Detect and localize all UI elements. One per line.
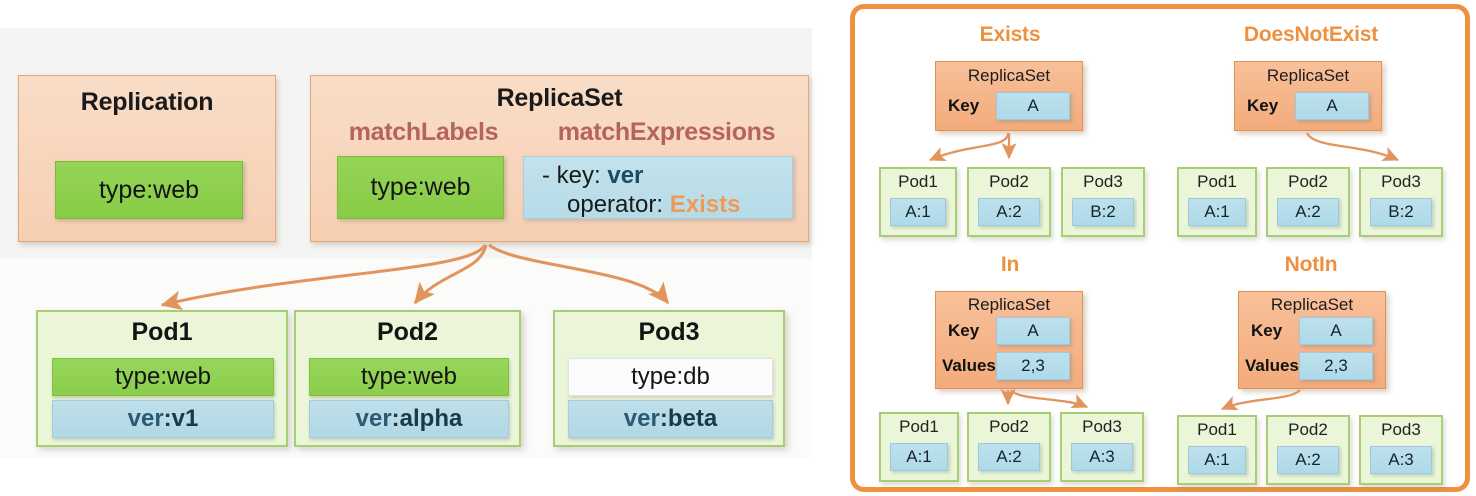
mini-pod: Pod3 A:3: [1060, 412, 1144, 482]
mini-pod-name: Pod1: [881, 172, 955, 192]
mini-pod: Pod3 B:2: [1061, 167, 1145, 237]
quadrant-exists: Exists ReplicaSet Key A Pod1 A:1 Pod2 A:…: [859, 15, 1161, 251]
mini-pod-value: B:2: [1072, 198, 1134, 226]
pod-ver-suffix: :beta: [660, 405, 717, 433]
quadrant-in: In ReplicaSet Key A Values 2,3 Pod1 A:1 …: [859, 249, 1161, 489]
mini-pod-value: A:2: [1277, 198, 1339, 226]
mini-pod: Pod3 A:3: [1359, 415, 1443, 485]
mini-pod-value: A:2: [1277, 446, 1339, 474]
mini-pod-name: Pod2: [1268, 172, 1348, 192]
mini-pod-name: Pod1: [881, 417, 957, 437]
mini-pod: Pod1 A:1: [1177, 415, 1257, 485]
quadrant-notin: NotIn ReplicaSet Key A Values 2,3 Pod1 A…: [1160, 249, 1462, 489]
pod-card: Pod3 type:db ver:beta: [553, 310, 785, 447]
mini-pod-value: A:3: [1370, 446, 1432, 474]
mini-pod: Pod2 A:2: [967, 167, 1051, 237]
mini-pod: Pod3 B:2: [1359, 167, 1443, 237]
pod-label-row-ver: ver:v1: [52, 400, 274, 438]
mini-pod-name: Pod1: [1179, 420, 1255, 440]
mini-pod: Pod1 A:1: [879, 167, 957, 237]
mini-pod-value: B:2: [1370, 198, 1432, 226]
operators-panel: Exists ReplicaSet Key A Pod1 A:1 Pod2 A:…: [850, 4, 1470, 492]
pod-label-row-type: type:db: [568, 358, 773, 396]
pod-ver-prefix: ver: [128, 405, 164, 433]
mini-pod-value: A:2: [978, 443, 1040, 471]
left-diagram-panel: Replication type:web ReplicaSet matchLab…: [0, 0, 812, 496]
mini-pod-name: Pod3: [1361, 172, 1441, 192]
pod-ver-prefix: ver: [356, 405, 392, 433]
mini-pod-name: Pod2: [969, 172, 1049, 192]
mini-pod-name: Pod2: [1268, 420, 1348, 440]
mini-pod-name: Pod3: [1062, 417, 1142, 437]
pod-ver-suffix: :alpha: [392, 405, 463, 433]
mini-pod-value: A:3: [1071, 443, 1133, 471]
mini-pod-name: Pod2: [969, 417, 1049, 437]
pod-card: Pod2 type:web ver:alpha: [294, 310, 521, 447]
pod-name: Pod2: [296, 318, 519, 347]
pod-name: Pod1: [38, 318, 286, 347]
mini-pod-value: A:1: [1188, 446, 1246, 474]
pod-label-row-type: type:web: [309, 358, 509, 396]
pod-label-row-ver: ver:beta: [568, 400, 773, 438]
mini-pod: Pod1 A:1: [1177, 167, 1257, 237]
pod-ver-prefix: ver: [624, 405, 660, 433]
pod-card: Pod1 type:web ver:v1: [36, 310, 288, 447]
quadrant-doesnotexist: DoesNotExist ReplicaSet Key A Pod1 A:1 P…: [1160, 15, 1462, 251]
pod-name: Pod3: [555, 318, 783, 347]
mini-pod-name: Pod3: [1063, 172, 1143, 192]
pod-label-row-type: type:web: [52, 358, 274, 396]
mini-pod-name: Pod1: [1179, 172, 1255, 192]
mini-pod-value: A:1: [1188, 198, 1246, 226]
mini-pod-value: A:1: [890, 443, 948, 471]
mini-pod-name: Pod3: [1361, 420, 1441, 440]
mini-pod: Pod1 A:1: [879, 412, 959, 482]
pod-label-row-ver: ver:alpha: [309, 400, 509, 438]
mini-pod-value: A:1: [890, 198, 946, 226]
mini-pod: Pod2 A:2: [1266, 167, 1350, 237]
mini-pod: Pod2 A:2: [1266, 415, 1350, 485]
mini-pod-value: A:2: [978, 198, 1040, 226]
mini-pod: Pod2 A:2: [967, 412, 1051, 482]
pod-ver-suffix: :v1: [164, 405, 199, 433]
